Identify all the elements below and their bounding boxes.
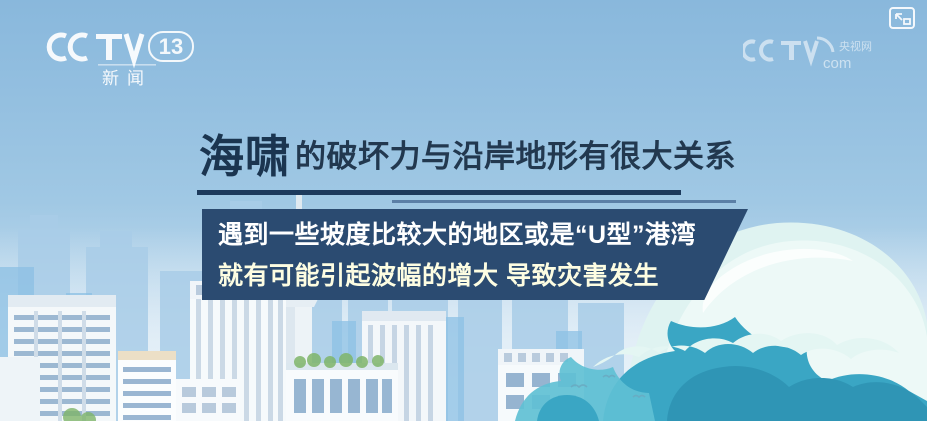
headline-rest: 的破坏力与沿岸地形有很大关系 [295,126,736,188]
page-title: 海啸的破坏力与沿岸地形有很大关系 [197,126,797,192]
subtitle-banner: 遇到一些坡度比较大的地区或是“U型”港湾 就有可能引起波幅的增大 导致灾害发生 [202,209,748,300]
subtitle-line-1: 遇到一些坡度比较大的地区或是“U型”港湾 [218,215,748,256]
headline-highlight: 海啸 [197,126,293,188]
svg-text:新闻: 新闻 [102,69,152,88]
svg-text:央视网: 央视网 [839,39,872,53]
tv-broadcast-frame: 13 新闻 央视网 com [0,0,927,421]
cctv13-logo-icon: 13 新闻 [46,26,196,88]
cctv-com-watermark-icon: 央视网 com [743,34,883,74]
title-underline-primary [197,190,681,195]
picture-in-picture-icon[interactable] [889,7,915,29]
subtitle-line-2: 就有可能引起波幅的增大 导致灾害发生 [218,256,748,297]
svg-text:com: com [823,55,851,72]
svg-text:13: 13 [159,34,183,59]
subtitle-lines: 遇到一些坡度比较大的地区或是“U型”港湾 就有可能引起波幅的增大 导致灾害发生 [218,215,748,297]
title-underline-secondary [392,200,736,203]
